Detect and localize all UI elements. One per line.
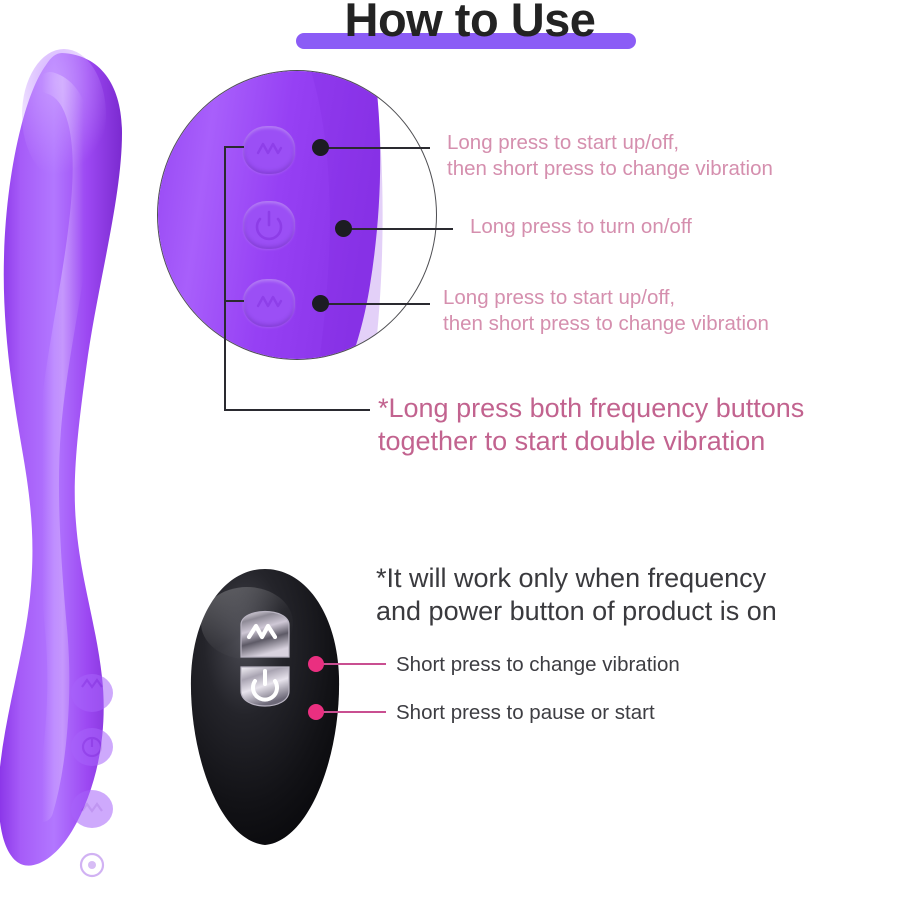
magnified-control-panel <box>157 70 437 360</box>
remote-leader-dot-vibration <box>308 656 324 672</box>
leader-dot-top <box>312 139 329 156</box>
infographic-canvas: How to Use <box>0 0 900 900</box>
bracket-stub-top <box>224 146 244 148</box>
annotation-bottom: Long press to start up/off, then short p… <box>443 285 769 337</box>
leader-dot-bottom <box>312 295 329 312</box>
bracket-vertical <box>224 146 226 411</box>
annotation-middle: Long press to turn on/off <box>470 214 692 240</box>
bracket-stub-bottom <box>224 300 244 302</box>
leader-dot-middle <box>335 220 352 237</box>
frequency-up-button[interactable] <box>243 126 295 174</box>
remote-note-power: Short press to pause or start <box>396 700 655 726</box>
bracket-stub-to-note <box>224 409 370 411</box>
power-button[interactable] <box>243 201 295 249</box>
page-title: How to Use <box>300 0 640 48</box>
remote-notice: *It will work only when frequency and po… <box>376 562 777 628</box>
remote-leader-line-power <box>322 711 386 713</box>
remote-leader-line-vibration <box>322 663 386 665</box>
annotation-top: Long press to start up/off, then short p… <box>447 130 773 182</box>
leader-line-middle <box>348 228 453 230</box>
annotation-both-frequency-buttons: *Long press both frequency buttons toget… <box>378 392 804 458</box>
remote-note-vibration: Short press to change vibration <box>396 652 680 678</box>
leader-line-bottom <box>325 303 430 305</box>
leader-line-top <box>325 147 430 149</box>
remote-leader-dot-power <box>308 704 324 720</box>
frequency-down-button[interactable] <box>243 279 295 327</box>
